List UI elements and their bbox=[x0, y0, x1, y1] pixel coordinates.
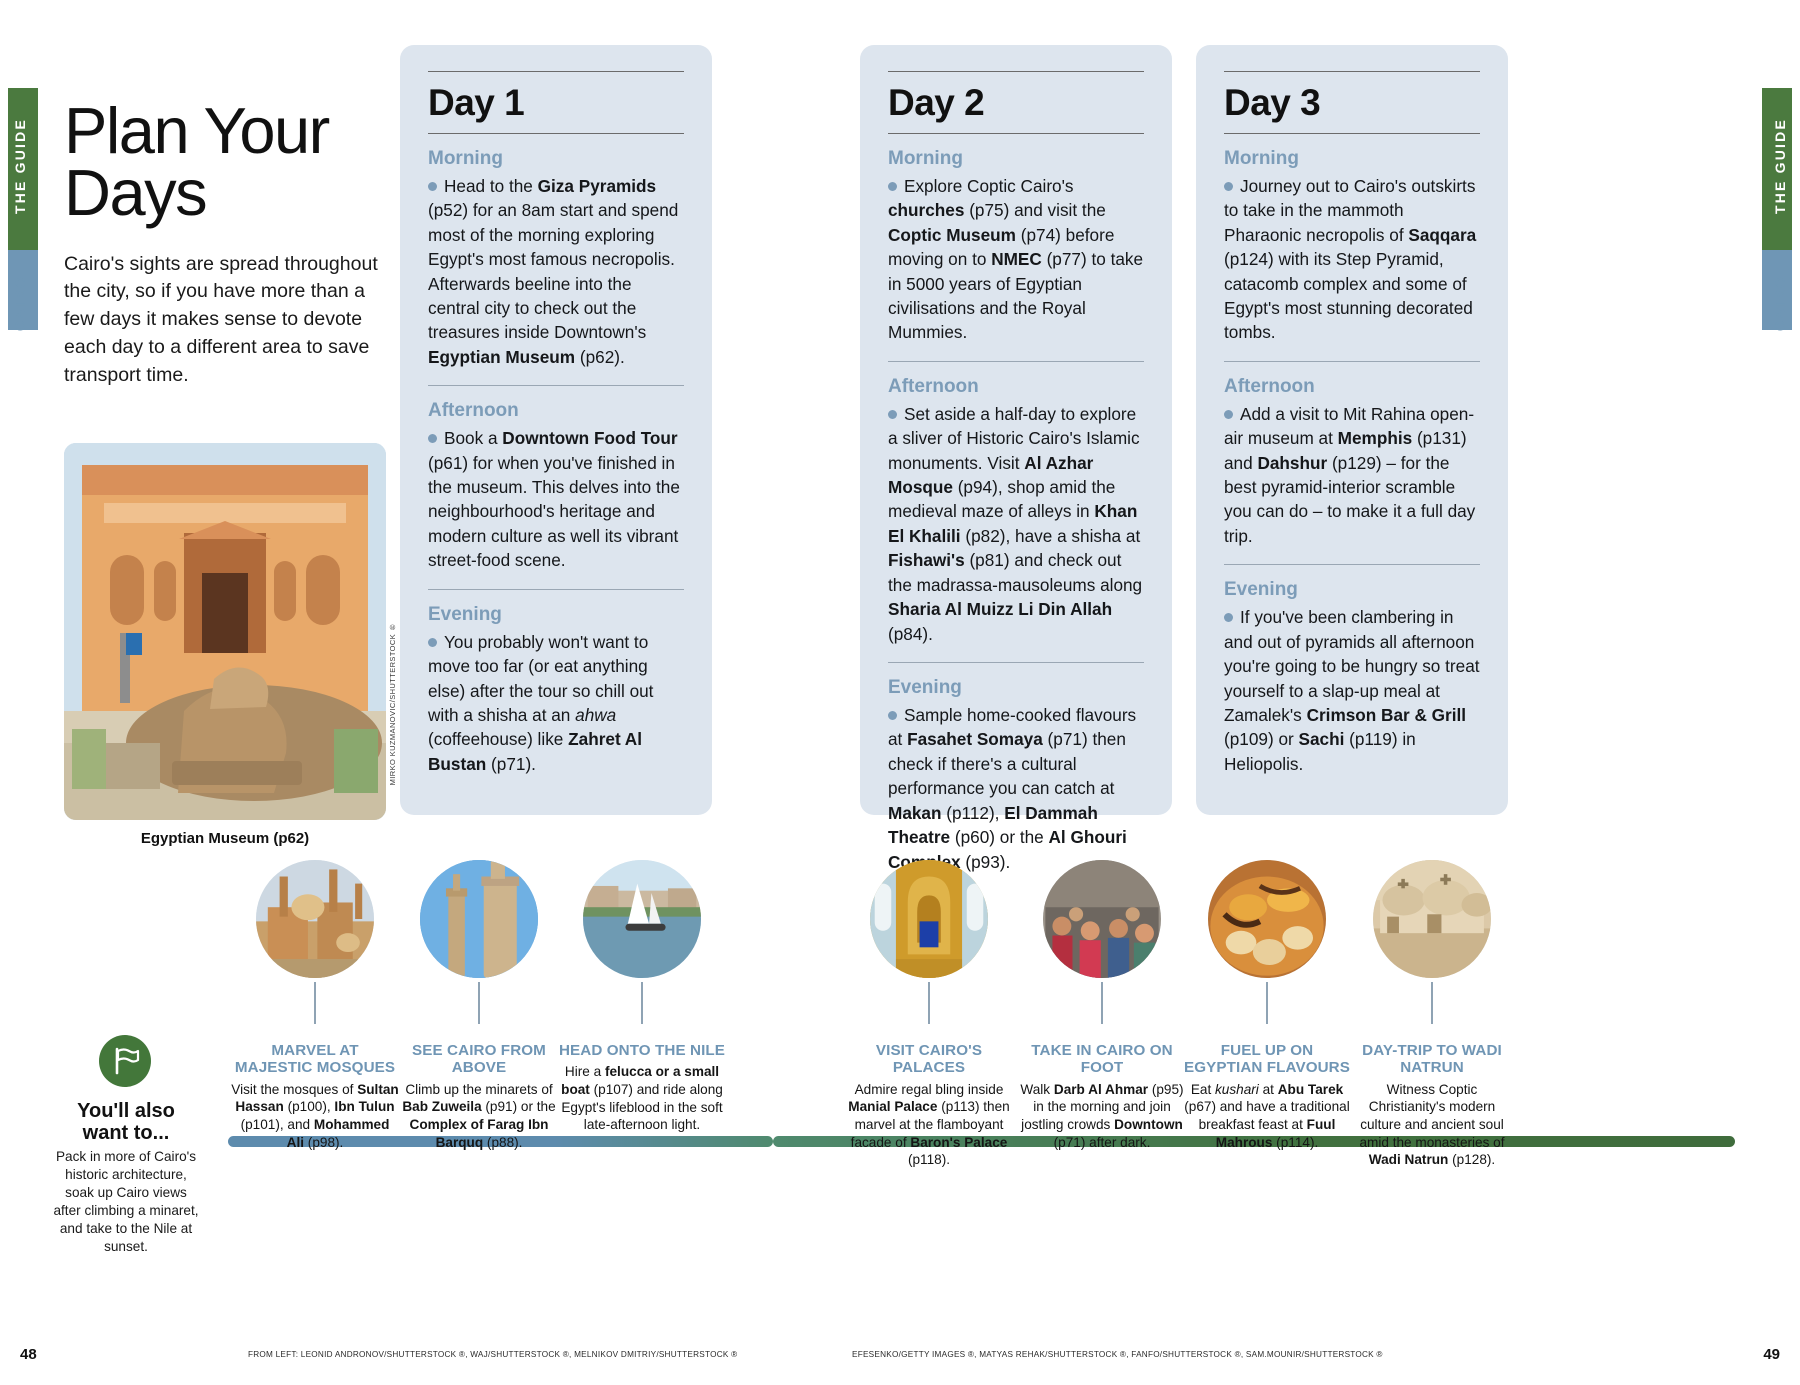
day-card-1: Day 1 Morning Head to the Giza Pyramids … bbox=[400, 45, 712, 815]
timeline-body: Admire regal bling inside Manial Palace … bbox=[845, 1081, 1013, 1169]
timeline-item[interactable]: DAY-TRIP TO WADI NATRUNWitness Coptic Ch… bbox=[1348, 860, 1516, 1169]
bullet-icon bbox=[888, 410, 897, 419]
bullet-icon bbox=[888, 711, 897, 720]
side-tab-guide-label-left: THE GUIDE bbox=[12, 118, 28, 214]
bullet-icon bbox=[1224, 613, 1233, 622]
day-card-3: Day 3 Morning Journey out to Cairo's out… bbox=[1196, 45, 1508, 815]
day-slot-afternoon: Afternoon Book a Downtown Food Tour (p61… bbox=[428, 386, 684, 573]
timeline-item[interactable]: HEAD ONTO THE NILEHire a felucca or a sm… bbox=[558, 860, 726, 1134]
slot-text: If you've been clambering in and out of … bbox=[1224, 605, 1480, 776]
bullet-icon bbox=[1224, 182, 1233, 191]
slot-label: Afternoon bbox=[428, 400, 684, 422]
photo-credits-left: FROM LEFT: LEONID ANDRONOV/SHUTTERSTOCK … bbox=[248, 1350, 737, 1359]
timeline-body: Eat kushari at Abu Tarek (p67) and have … bbox=[1183, 1081, 1351, 1152]
timeline-heading: SEE CAIRO FROM ABOVE bbox=[395, 1042, 563, 1077]
timeline-item[interactable]: SEE CAIRO FROM ABOVEClimb up the minaret… bbox=[395, 860, 563, 1151]
day-title: Day 1 bbox=[428, 84, 684, 133]
photo-caption: Egyptian Museum (p62) bbox=[64, 830, 386, 847]
minarets-photo bbox=[420, 860, 538, 978]
side-tab-cairo-label-left: CAIRO bbox=[12, 275, 28, 331]
intro-block: Plan Your Days Cairo's sights are spread… bbox=[64, 100, 386, 389]
egyptian-museum-photo bbox=[64, 443, 386, 820]
day-slot-morning: Morning Head to the Giza Pyramids (p52) … bbox=[428, 134, 684, 369]
bullet-icon bbox=[428, 434, 437, 443]
slot-label: Evening bbox=[888, 677, 1144, 699]
side-tab-cairo-label-right: CAIRO bbox=[1772, 275, 1788, 331]
flag-icon bbox=[99, 1035, 151, 1087]
slot-label: Morning bbox=[428, 148, 684, 170]
timeline-stem bbox=[1431, 982, 1433, 1024]
photo-illustration bbox=[64, 443, 386, 820]
day-rule-top bbox=[1224, 71, 1480, 72]
felucca-nile-photo bbox=[583, 860, 701, 978]
photo-credit: MIRKO KUZMANOVIC/SHUTTERSTOCK ® bbox=[388, 622, 397, 785]
guide-spread: THE GUIDE CAIRO THE GUIDE CAIRO Plan You… bbox=[0, 0, 1800, 1385]
day-slot-morning: Morning Explore Coptic Cairo's churches … bbox=[888, 134, 1144, 345]
page-title: Plan Your Days bbox=[64, 100, 386, 225]
slot-text: Add a visit to Mit Rahina open-air museu… bbox=[1224, 402, 1480, 549]
timeline-item[interactable]: VISIT CAIRO'S PALACESAdmire regal bling … bbox=[845, 860, 1013, 1169]
page-number-right: 49 bbox=[1763, 1346, 1780, 1363]
timeline-stem bbox=[928, 982, 930, 1024]
day-title: Day 2 bbox=[888, 84, 1144, 133]
slot-label: Evening bbox=[1224, 579, 1480, 601]
day-title: Day 3 bbox=[1224, 84, 1480, 133]
also-want-title: You'll also want to... bbox=[62, 1100, 190, 1145]
timeline-stem bbox=[314, 982, 316, 1024]
side-tab-guide-label-right: THE GUIDE bbox=[1772, 118, 1788, 214]
flag-icon-glyph bbox=[110, 1046, 140, 1076]
intro-paragraph: Cairo's sights are spread throughout the… bbox=[64, 251, 386, 389]
timeline-body: Witness Coptic Christianity's modern cul… bbox=[1348, 1081, 1516, 1169]
crowded-street-photo bbox=[1043, 860, 1161, 978]
bullet-icon bbox=[428, 638, 437, 647]
day-slot-afternoon: Afternoon Set aside a half-day to explor… bbox=[888, 362, 1144, 646]
day-slot-afternoon: Afternoon Add a visit to Mit Rahina open… bbox=[1224, 362, 1480, 549]
timeline-stem bbox=[1101, 982, 1103, 1024]
timeline-body: Climb up the minarets of Bab Zuweila (p9… bbox=[395, 1081, 563, 1152]
day-slot-evening: Evening Sample home-cooked flavours at F… bbox=[888, 663, 1144, 874]
slot-text: Set aside a half-day to explore a sliver… bbox=[888, 402, 1144, 646]
timeline-heading: HEAD ONTO THE NILE bbox=[558, 1042, 726, 1059]
kushari-food-photo bbox=[1208, 860, 1326, 978]
day-card-2: Day 2 Morning Explore Coptic Cairo's chu… bbox=[860, 45, 1172, 815]
slot-text: Sample home-cooked flavours at Fasahet S… bbox=[888, 703, 1144, 874]
slot-text: Book a Downtown Food Tour (p61) for when… bbox=[428, 426, 684, 573]
timeline-item[interactable]: MARVEL AT MAJESTIC MOSQUESVisit the mosq… bbox=[231, 860, 399, 1151]
manial-palace-interior-photo bbox=[870, 860, 988, 978]
slot-text: Journey out to Cairo's outskirts to take… bbox=[1224, 174, 1480, 345]
day-rule-top bbox=[428, 71, 684, 72]
day-rule-top bbox=[888, 71, 1144, 72]
slot-label: Morning bbox=[1224, 148, 1480, 170]
timeline-stem bbox=[641, 982, 643, 1024]
slot-label: Morning bbox=[888, 148, 1144, 170]
timeline-heading: MARVEL AT MAJESTIC MOSQUES bbox=[231, 1042, 399, 1077]
also-want-body: Pack in more of Cairo's historic archite… bbox=[52, 1148, 200, 1256]
day-slot-evening: Evening You probably won't want to move … bbox=[428, 590, 684, 777]
day-slot-evening: Evening If you've been clambering in and… bbox=[1224, 565, 1480, 776]
day-slot-morning: Morning Journey out to Cairo's outskirts… bbox=[1224, 134, 1480, 345]
slot-label: Afternoon bbox=[888, 376, 1144, 398]
timeline-heading: VISIT CAIRO'S PALACES bbox=[845, 1042, 1013, 1077]
bullet-icon bbox=[428, 182, 437, 191]
timeline-body: Walk Darb Al Ahmar (p95) in the morning … bbox=[1018, 1081, 1186, 1152]
slot-text: Head to the Giza Pyramids (p52) for an 8… bbox=[428, 174, 684, 369]
photo-credits-right: EFESENKO/GETTY IMAGES ®, MATYAS REHAK/SH… bbox=[852, 1350, 1383, 1359]
timeline-stem bbox=[1266, 982, 1268, 1024]
timeline-heading: FUEL UP ON EGYPTIAN FLAVOURS bbox=[1183, 1042, 1351, 1077]
timeline-body: Hire a felucca or a small boat (p107) an… bbox=[558, 1063, 726, 1134]
timeline-heading: TAKE IN CAIRO ON FOOT bbox=[1018, 1042, 1186, 1077]
timeline-item[interactable]: FUEL UP ON EGYPTIAN FLAVOURSEat kushari … bbox=[1183, 860, 1351, 1151]
slot-label: Evening bbox=[428, 604, 684, 626]
slot-text: Explore Coptic Cairo's churches (p75) an… bbox=[888, 174, 1144, 345]
timeline-item[interactable]: TAKE IN CAIRO ON FOOTWalk Darb Al Ahmar … bbox=[1018, 860, 1186, 1151]
slot-text: You probably won't want to move too far … bbox=[428, 630, 684, 777]
page-number-left: 48 bbox=[20, 1346, 37, 1363]
bullet-icon bbox=[1224, 410, 1233, 419]
sultan-hassan-mosque-photo bbox=[256, 860, 374, 978]
bullet-icon bbox=[888, 182, 897, 191]
timeline-stem bbox=[478, 982, 480, 1024]
slot-label: Afternoon bbox=[1224, 376, 1480, 398]
timeline-heading: DAY-TRIP TO WADI NATRUN bbox=[1348, 1042, 1516, 1077]
wadi-natrun-monastery-photo bbox=[1373, 860, 1491, 978]
timeline-body: Visit the mosques of Sultan Hassan (p100… bbox=[231, 1081, 399, 1152]
